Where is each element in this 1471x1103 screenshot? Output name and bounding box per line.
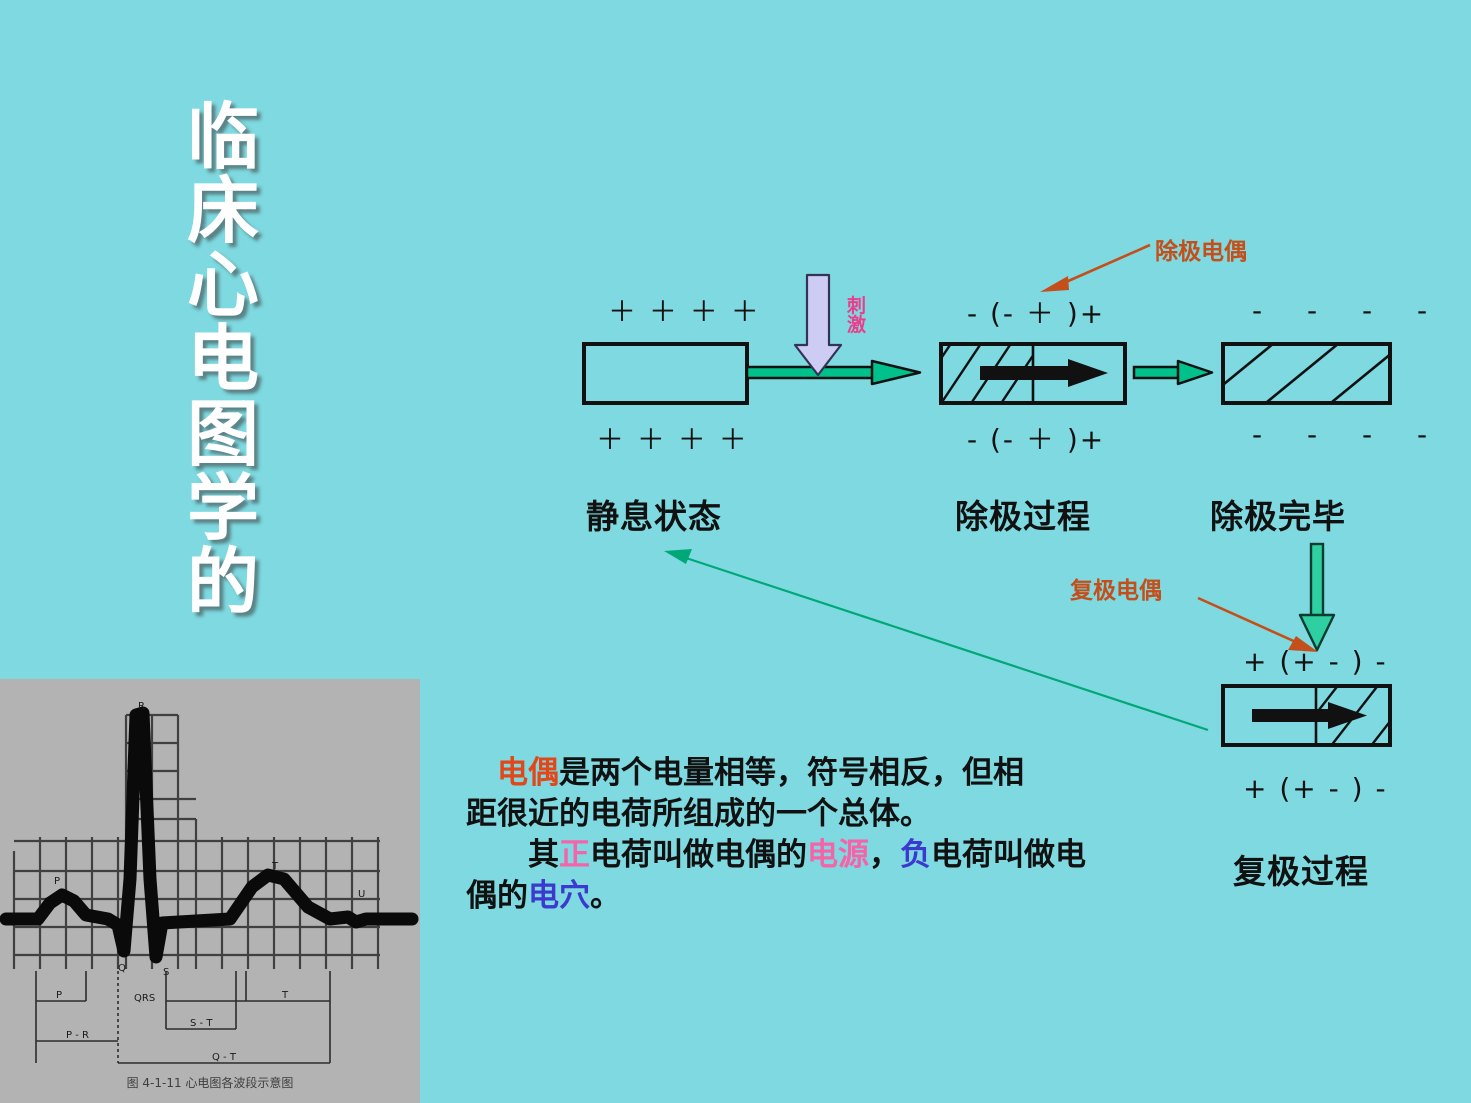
svg-text:QRS: QRS [134, 993, 155, 1004]
svg-text:T: T [271, 861, 279, 872]
resting-state-box [584, 344, 747, 403]
charges-top-resting: ＋ ＋ ＋ ＋ [608, 290, 761, 330]
caption-repolarization-process: 复极过程 [1233, 845, 1369, 893]
svg-text:P - R: P - R [66, 1030, 89, 1041]
term-sink: 电穴 [528, 878, 590, 914]
caption-depolarization-complete: 除极完毕 [1210, 490, 1346, 538]
label-repolarization-dipole: 复极电偶 [1070, 571, 1162, 605]
ecg-figure-caption: 图 4-1-11 心电图各波段示意图 [127, 1075, 294, 1090]
label-stimulus: 刺激 [847, 297, 869, 335]
svg-text:P: P [54, 876, 60, 887]
body-line-3-e: ， [869, 837, 900, 873]
body-line-2: 距很近的电荷所组成的一个总体。 [466, 794, 1126, 835]
repolarization-vector-arrow [1252, 702, 1367, 729]
term-source: 电源 [807, 837, 869, 873]
depolarization-box [900, 330, 1125, 420]
depol-dipole-pointer-arrow [1040, 245, 1150, 292]
caption-depolarization-process: 除极过程 [955, 490, 1091, 538]
ecg-waveform-graphic: R P Q S T U [0, 679, 420, 1103]
body-line-3-c: 电荷叫做电偶的 [590, 837, 807, 873]
svg-text:T: T [281, 990, 289, 1001]
repol-dipole-pointer-arrow [1198, 598, 1318, 652]
term-positive: 正 [559, 837, 590, 873]
green-arrow-down [1300, 544, 1334, 650]
depolarization-complete-box [1180, 330, 1420, 420]
body-line-1: 电偶是两个电量相等，符号相反，但相 [466, 753, 1126, 794]
charges-bottom-depolarized: - - - - [1252, 418, 1445, 451]
repolarization-hatch [1280, 670, 1470, 760]
term-negative: 负 [900, 837, 931, 873]
body-line-1-rest: 是两个电量相等，符号相反，但相 [559, 755, 1024, 791]
term-dipole: 电偶 [497, 755, 559, 791]
caption-resting-state: 静息状态 [586, 490, 722, 538]
slide-canvas: 临床心电图学的 [0, 0, 1471, 1103]
body-line-3-g: 电荷叫做电 [931, 837, 1086, 873]
charges-bottom-repolarizing: + (+ - ) - [1243, 772, 1388, 805]
green-arrow-2 [1134, 361, 1212, 384]
stimulus-arrow [795, 275, 841, 375]
body-line-4: 偶的电穴。 [466, 876, 1126, 917]
body-line-4-c: 。 [590, 878, 621, 914]
svg-text:Q: Q [118, 963, 126, 974]
svg-text:P: P [56, 990, 62, 1001]
body-line-4-a: 偶的 [466, 878, 528, 914]
body-line-3-a: 其 [528, 837, 559, 873]
label-depolarization-dipole: 除极电偶 [1155, 232, 1247, 266]
depolarization-hatch [900, 330, 1050, 420]
svg-text:U: U [358, 889, 365, 900]
depolarization-vector-arrow [980, 359, 1108, 387]
charges-top-depolarizing: - (- ＋ )+ [967, 292, 1105, 332]
charges-top-repolarizing: + (+ - ) - [1243, 645, 1388, 678]
depolarization-complete-hatch [1180, 330, 1420, 420]
svg-text:S - T: S - T [190, 1018, 213, 1029]
body-line-3: 其正电荷叫做电偶的电源，负电荷叫做电 [466, 835, 1126, 876]
svg-text:Q - T: Q - T [212, 1052, 237, 1063]
svg-text:R: R [138, 701, 145, 712]
charges-bottom-resting: ＋ ＋ ＋ ＋ [596, 418, 749, 458]
repolarization-box [1223, 670, 1470, 760]
ecg-waveform-figure: R P Q S T U [0, 679, 420, 1103]
body-paragraph: 电偶是两个电量相等，符号相反，但相 距很近的电荷所组成的一个总体。 其正电荷叫做… [466, 753, 1126, 917]
charges-bottom-depolarizing: - (- ＋ )+ [967, 418, 1105, 458]
charges-top-depolarized: - - - - [1252, 294, 1445, 327]
green-arrow-1 [747, 361, 920, 384]
page-title: 临床心电图学的 [168, 100, 278, 619]
